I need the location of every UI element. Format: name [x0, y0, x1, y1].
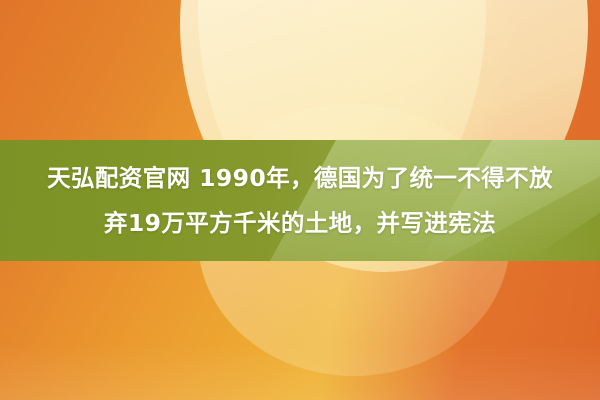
banner-image: 天弘配资官网 1990年，德国为了统一不得不放 弃19万平方千米的土地，并写进宪…	[0, 0, 600, 400]
caption-text-block: 天弘配资官网 1990年，德国为了统一不得不放 弃19万平方千米的土地，并写进宪…	[0, 140, 600, 261]
caption-line-2: 弃19万平方千米的土地，并写进宪法	[104, 201, 496, 246]
caption-line-1: 天弘配资官网 1990年，德国为了统一不得不放	[47, 156, 553, 201]
